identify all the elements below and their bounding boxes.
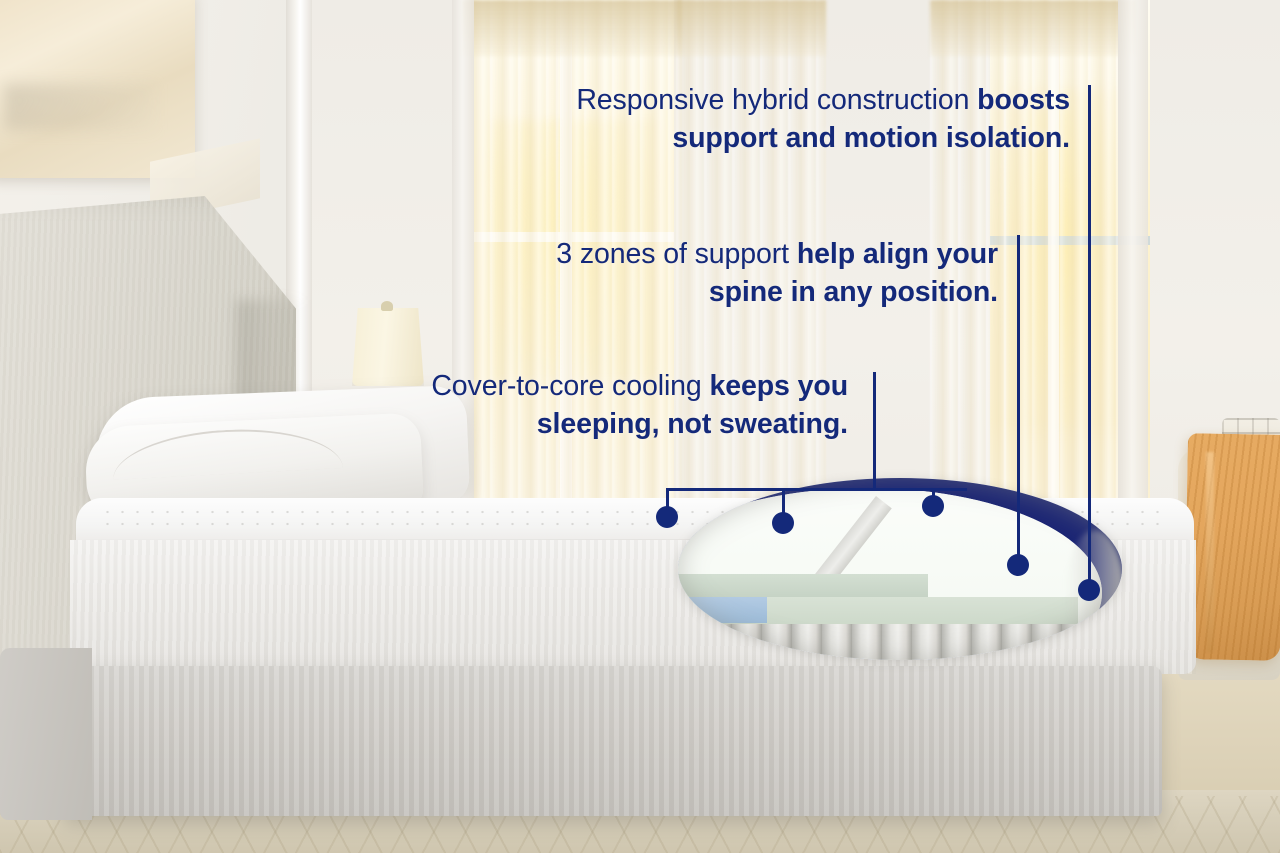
mattress-cutaway-diagram	[678, 478, 1122, 660]
cutaway-layer-pocketed-coils	[678, 624, 1122, 660]
callout-3-line1-regular: Cover-to-core cooling	[431, 370, 709, 402]
leader-line-hybrid-construction	[1088, 85, 1091, 590]
leader-dot-cooling-3	[922, 495, 944, 517]
bed-platform-texture	[64, 666, 1162, 816]
leader-line-three-zones	[1017, 235, 1020, 565]
throw-blanket-fold	[1206, 452, 1214, 652]
curtain-header-right	[930, 0, 1136, 56]
callout-2-line1-bold: help align your	[797, 238, 998, 270]
curtain-header-left	[462, 0, 682, 56]
wall-molding-right	[1118, 0, 1148, 560]
callout-3-line1-bold: keeps you	[710, 370, 849, 402]
callout-2-line1-regular: 3 zones of support	[556, 238, 797, 270]
bed-platform-left-cap	[0, 648, 92, 820]
callout-3-line2-bold: sleeping, not sweating.	[537, 408, 848, 440]
cutaway-layer-cooling-gel-strip	[678, 597, 767, 623]
throw-blanket	[1184, 433, 1280, 661]
bed-platform-base	[64, 666, 1162, 816]
framed-wall-art	[0, 0, 195, 178]
leader-dot-three-zones	[1007, 554, 1029, 576]
callout-1-line2-bold: support and motion isolation.	[672, 122, 1070, 154]
table-lamp-finial	[381, 301, 393, 311]
cutaway-layer-comfort-foam-upper	[678, 574, 928, 597]
callout-hybrid-construction: Responsive hybrid construction boosts su…	[430, 82, 1070, 157]
callout-1-line1-regular: Responsive hybrid construction	[576, 84, 977, 116]
leader-dot-cooling-2	[772, 512, 794, 534]
callout-cover-to-core-cooling: Cover-to-core cooling keeps you sleeping…	[330, 368, 848, 443]
leader-dot-cooling-1	[656, 506, 678, 528]
curtain-header-center	[676, 0, 826, 56]
callout-2-line2-bold: spine in any position.	[709, 276, 998, 308]
callout-1-line1-bold: boosts	[977, 84, 1070, 116]
leader-dot-hybrid-construction	[1078, 579, 1100, 601]
leader-line-cooling-branch	[667, 488, 967, 491]
marketing-scene: Responsive hybrid construction boosts su…	[0, 0, 1280, 853]
leader-line-cooling-stem	[873, 372, 876, 490]
callout-three-zones: 3 zones of support help align your spine…	[440, 236, 998, 311]
